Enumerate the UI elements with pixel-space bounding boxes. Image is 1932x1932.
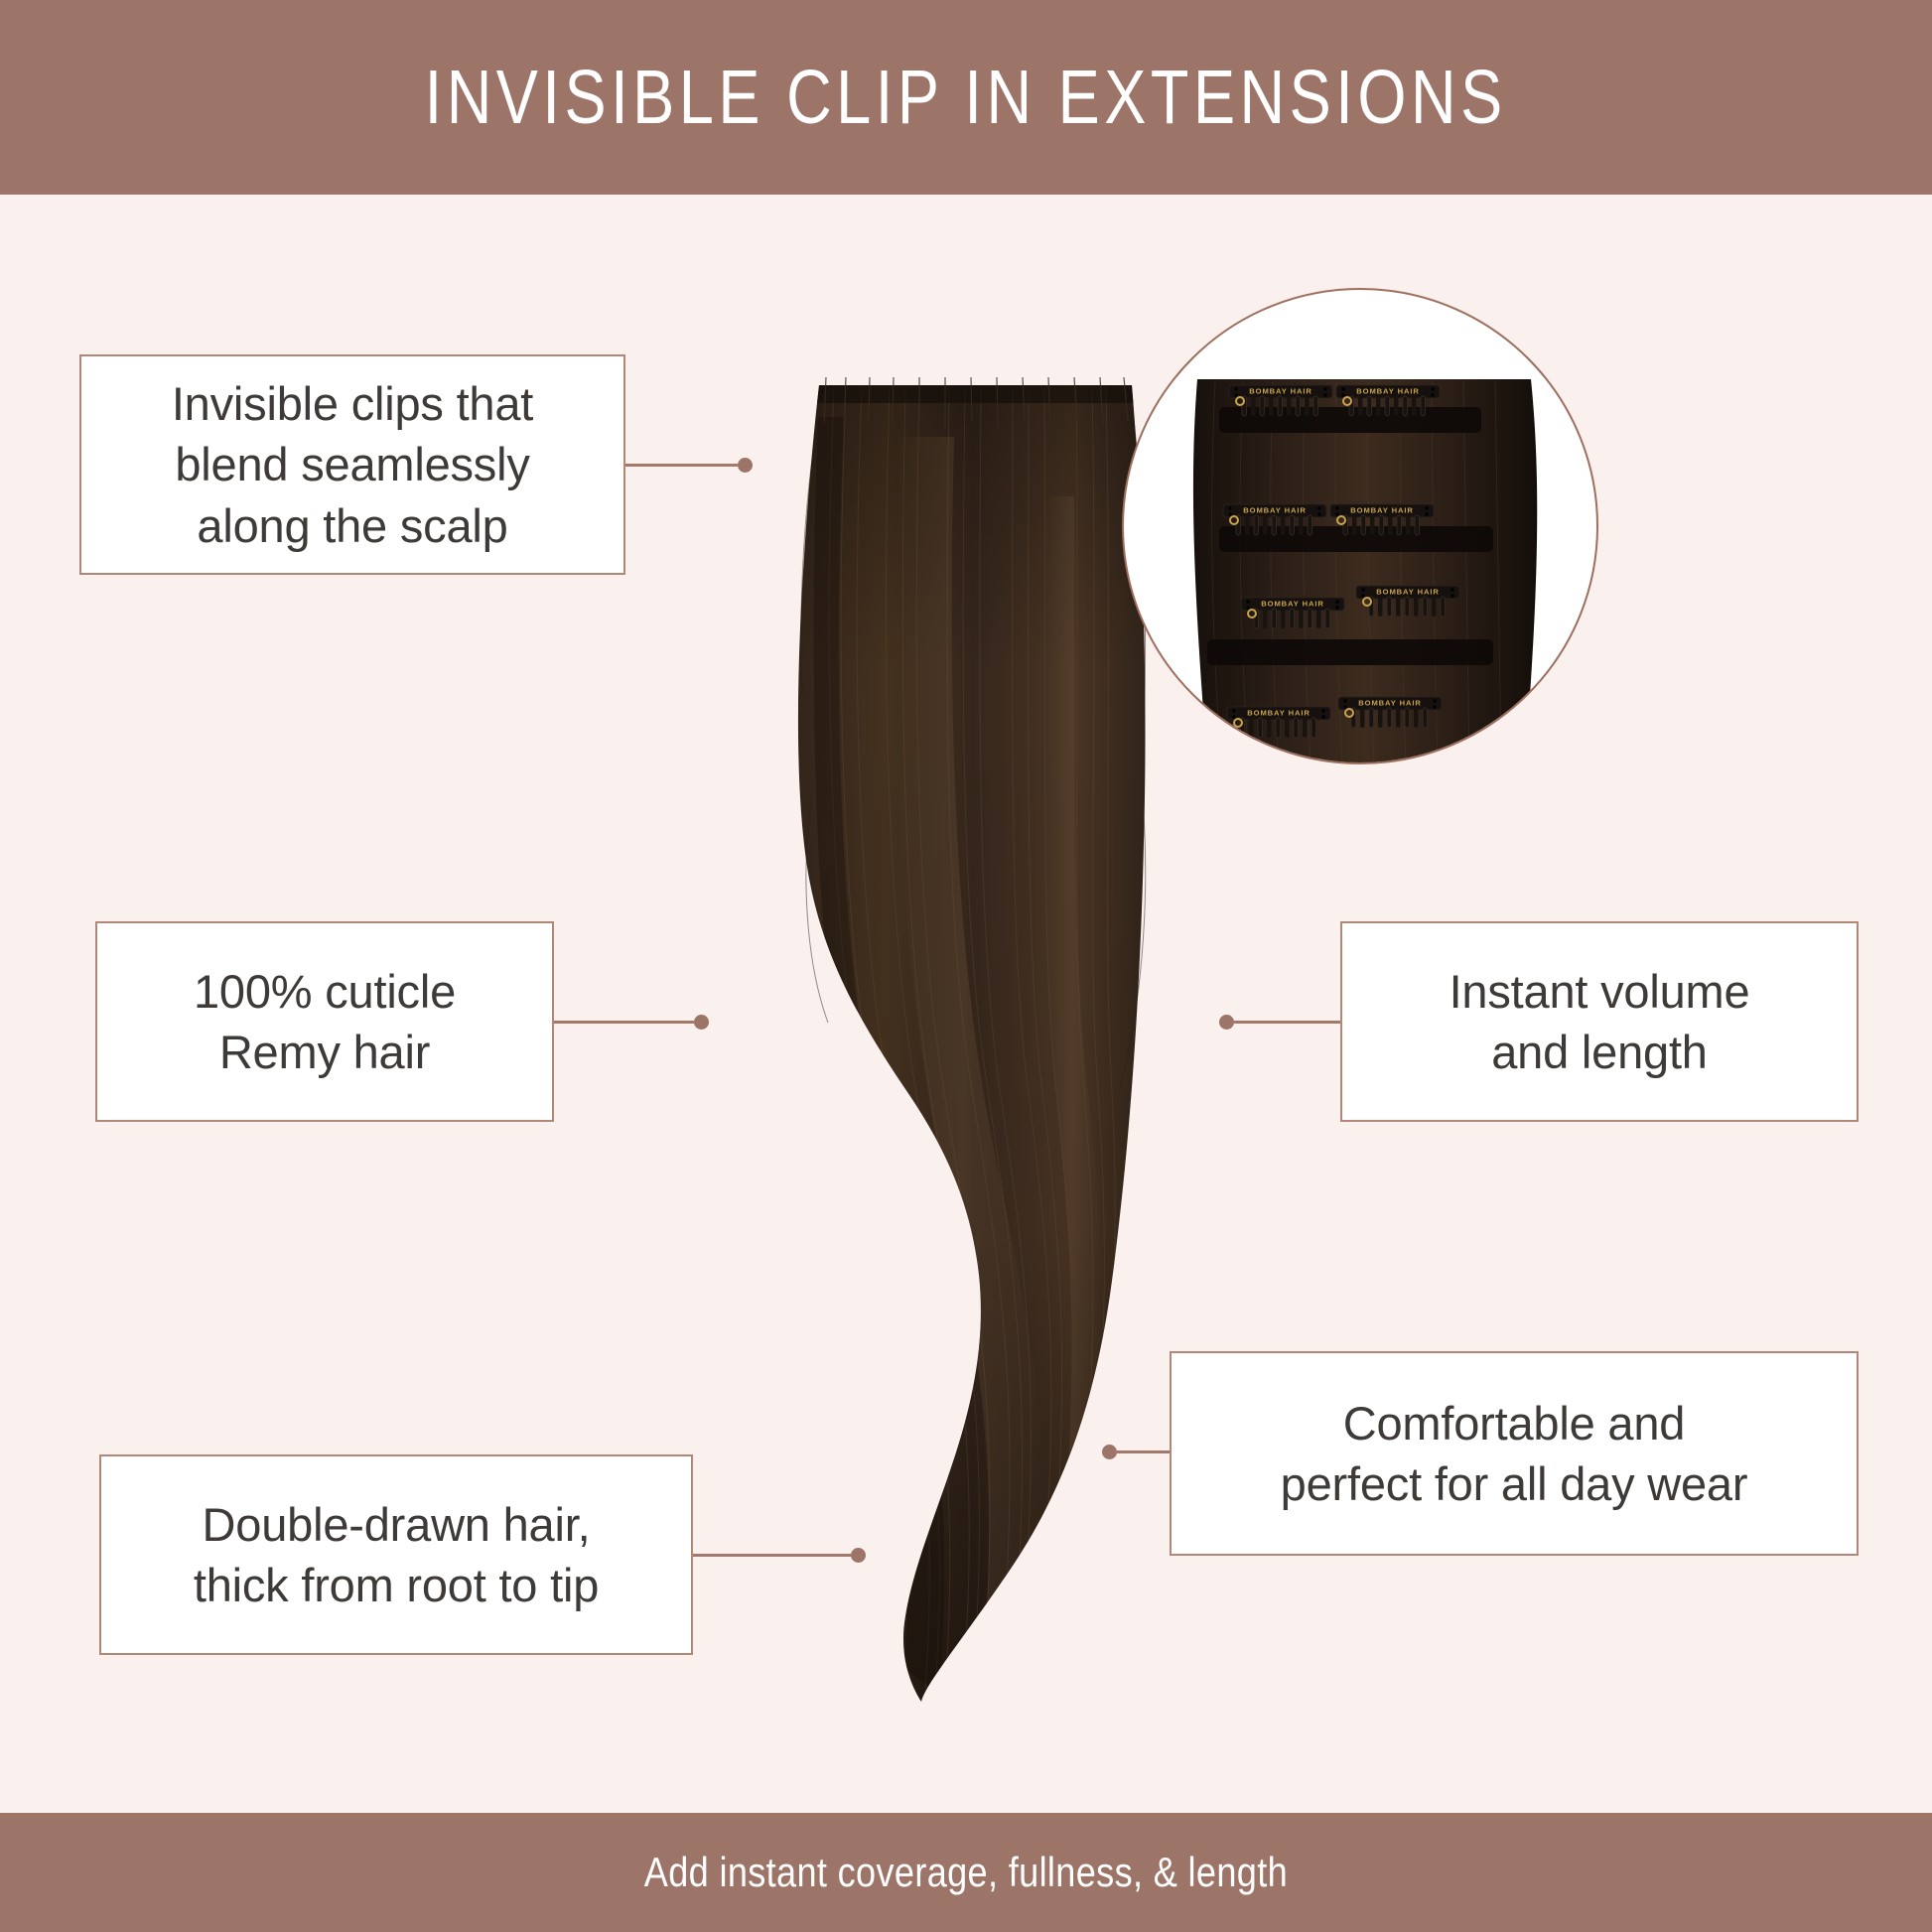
clip-brand-label: BOMBAY HAIR bbox=[1247, 709, 1311, 718]
callout-instant-volume: Instant volume and length bbox=[1340, 921, 1859, 1122]
footer-tagline: Add instant coverage, fullness, & length bbox=[644, 1849, 1288, 1896]
callout-line: Instant volume bbox=[1449, 961, 1750, 1022]
connector-remy bbox=[554, 1015, 709, 1029]
callout-line: along the scalp bbox=[197, 495, 507, 556]
callout-invisible-clips: Invisible clips that blend seamlessly al… bbox=[79, 354, 625, 575]
clip-brand-label: BOMBAY HAIR bbox=[1356, 387, 1420, 396]
callout-line: blend seamlessly bbox=[175, 434, 529, 494]
connector-line bbox=[1117, 1450, 1175, 1453]
page-title: INVISIBLE CLIP IN EXTENSIONS bbox=[425, 54, 1507, 142]
clip-closeup-inset: BOMBAY HAIR BOMBAY HAIR BOMBAY HAIR BOMB… bbox=[1122, 288, 1598, 764]
callout-line: 100% cuticle bbox=[194, 961, 456, 1022]
callout-line: Double-drawn hair, bbox=[203, 1494, 591, 1555]
clip-brand-label: BOMBAY HAIR bbox=[1249, 387, 1312, 396]
connector-volume bbox=[1219, 1015, 1346, 1029]
clip-brand-label: BOMBAY HAIR bbox=[1261, 600, 1324, 609]
callout-line: perfect for all day wear bbox=[1281, 1453, 1748, 1514]
callout-line: Remy hair bbox=[219, 1022, 430, 1082]
callout-line: and length bbox=[1491, 1022, 1708, 1082]
callout-line: Comfortable and bbox=[1343, 1393, 1685, 1453]
connector-comfort bbox=[1102, 1445, 1175, 1458]
connector-clips bbox=[625, 458, 753, 472]
connector-dot bbox=[851, 1548, 866, 1563]
callout-comfortable: Comfortable and perfect for all day wear bbox=[1170, 1351, 1859, 1556]
connector-dot bbox=[1102, 1445, 1117, 1459]
connector-dot bbox=[694, 1015, 709, 1030]
clip-brand-label: BOMBAY HAIR bbox=[1350, 506, 1414, 515]
callout-line: Invisible clips that bbox=[172, 373, 533, 434]
connector-dot bbox=[738, 458, 753, 473]
connector-line bbox=[625, 464, 738, 467]
connector-doubledrawn bbox=[693, 1548, 866, 1562]
callout-double-drawn: Double-drawn hair, thick from root to ti… bbox=[99, 1454, 693, 1655]
clip-brand-label: BOMBAY HAIR bbox=[1376, 588, 1440, 597]
callout-remy-hair: 100% cuticle Remy hair bbox=[95, 921, 554, 1122]
connector-line bbox=[554, 1021, 694, 1024]
clip-brand-label: BOMBAY HAIR bbox=[1243, 506, 1307, 515]
clip-brand-label: BOMBAY HAIR bbox=[1358, 699, 1422, 708]
header-bar: INVISIBLE CLIP IN EXTENSIONS bbox=[0, 0, 1932, 195]
connector-line bbox=[1234, 1021, 1346, 1024]
connector-line bbox=[693, 1554, 851, 1557]
connector-dot bbox=[1219, 1015, 1234, 1030]
callout-line: thick from root to tip bbox=[194, 1555, 599, 1615]
footer-bar: Add instant coverage, fullness, & length bbox=[0, 1813, 1932, 1932]
